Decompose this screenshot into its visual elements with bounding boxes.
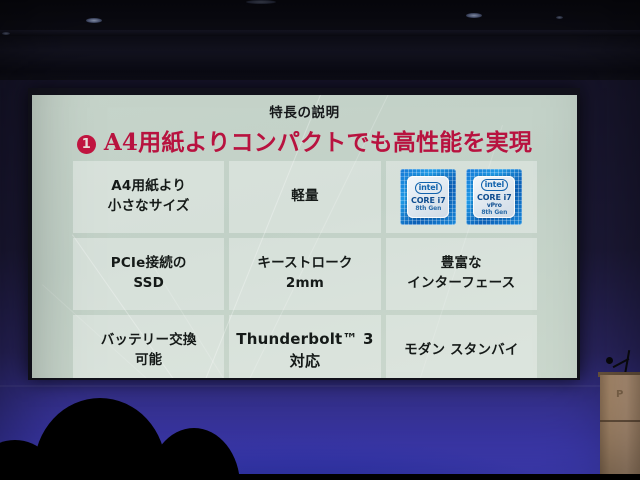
presentation-photo: 特長の説明 1A4用紙よりコンパクトでも高性能を実現 A4用紙より 小さなサイズ… [0,0,640,480]
feature-line-1: モダン スタンバイ [404,341,519,361]
intel-variant: vPro [487,202,502,209]
ceiling-light [86,18,102,23]
slide-title: 1A4用紙よりコンパクトでも高性能を実現 [32,123,577,157]
ceiling-light [466,13,482,18]
intel-wordmark: intel [481,179,508,191]
microphone-head-icon [606,357,613,364]
ceiling-light [2,32,10,35]
intel-generation: 8th Gen [415,205,441,212]
intel-generation: 8th Gen [481,209,507,216]
intel-core-i7-badge: intel CORE i7 8th Gen [400,169,456,225]
podium-panel-seam [600,420,640,422]
feature-line-1: Thunderbolt™ 3 [236,329,373,351]
intel-badge-die: intel CORE i7 8th Gen [407,176,449,218]
feature-line-1: キーストローク [257,254,352,274]
room-ceiling [0,0,640,92]
feature-line-1: PCIe接続の [111,254,187,274]
feature-cell-modern-standby: モダン スタンバイ [386,315,537,378]
feature-cell-weight: 軽量 [229,161,380,233]
feature-line-2: 小さなサイズ [108,197,190,217]
ceiling-rail [0,30,640,36]
feature-line-2: 2mm [286,274,324,294]
feature-cell-ssd: PCIe接続の SSD [73,238,224,310]
projected-slide: 特長の説明 1A4用紙よりコンパクトでも高性能を実現 A4用紙より 小さなサイズ… [32,95,577,378]
intel-product-name: CORE i7 [411,196,446,205]
intel-core-i7-vpro-badge: intel CORE i7 vPro 8th Gen [466,169,522,225]
feature-cell-cpu-badges: intel CORE i7 8th Gen intel CORE i7 vPro… [386,161,537,233]
feature-line-1: 軽量 [291,187,318,207]
wall-seam [0,385,640,387]
podium-logo: P [616,389,624,400]
feature-grid: A4用紙より 小さなサイズ 軽量 intel CORE i7 8th Gen [73,161,537,378]
intel-product-name: CORE i7 [477,193,512,202]
foreground-shadow [0,474,640,480]
feature-cell-battery: バッテリー交換 可能 [73,315,224,378]
feature-line-2: インターフェース [407,274,515,294]
feature-cell-keystroke: キーストローク 2mm [229,238,380,310]
slide-number-badge: 1 [77,135,96,154]
feature-line-2: SSD [133,274,164,294]
intel-badge-die: intel CORE i7 vPro 8th Gen [473,176,515,218]
feature-line-1: A4用紙より [111,177,186,197]
ceiling-light [556,16,563,19]
slide-title-text: A4用紙よりコンパクトでも高性能を実現 [104,129,532,156]
feature-cell-size: A4用紙より 小さなサイズ [73,161,224,233]
feature-line-2: 可能 [135,351,162,371]
slide-eyebrow: 特長の説明 [32,101,577,121]
ceiling-light [246,0,276,4]
feature-line-1: 豊富な [441,254,482,274]
feature-cell-interface: 豊富な インターフェース [386,238,537,310]
feature-line-2: 対応 [290,351,320,373]
intel-wordmark: intel [415,182,442,194]
feature-cell-thunderbolt: Thunderbolt™ 3 対応 [229,315,380,378]
feature-line-1: バッテリー交換 [101,331,197,351]
